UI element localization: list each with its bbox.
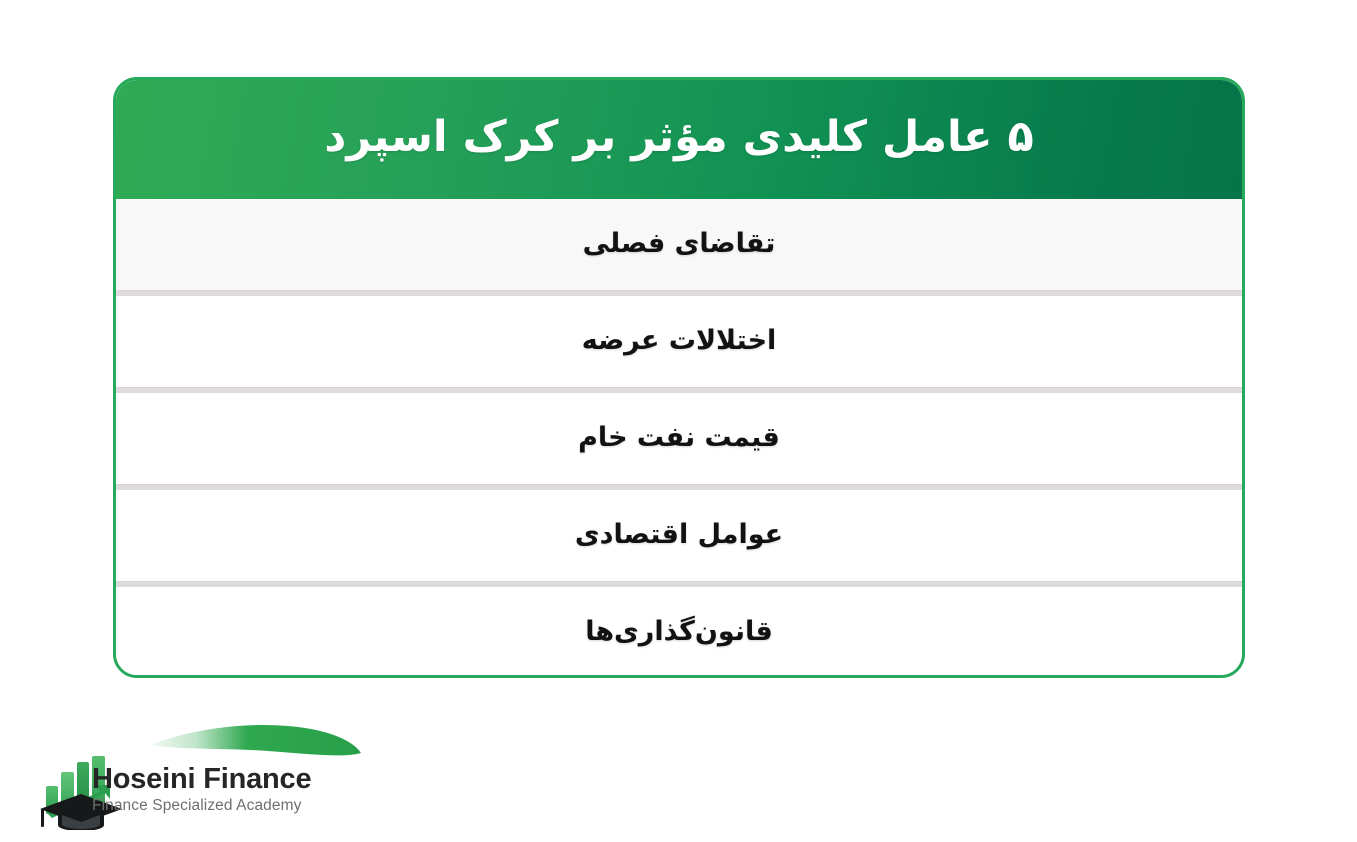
factors-card: ۵ عامل کلیدی مؤثر بر کرک اسپرد تقاضای فص… <box>113 77 1245 678</box>
list-item[interactable]: قانون‌گذاری‌ها <box>116 587 1242 678</box>
card-header: ۵ عامل کلیدی مؤثر بر کرک اسپرد <box>116 80 1242 199</box>
logo-tagline: Finance Specialized Academy <box>92 797 362 815</box>
list-item-label: عوامل اقتصادی <box>575 519 783 551</box>
list-item-label: قانون‌گذاری‌ها <box>585 616 773 648</box>
logo-text-block: Hoseini Finance Finance Specialized Acad… <box>92 764 362 815</box>
list-item[interactable]: عوامل اقتصادی <box>116 490 1242 581</box>
list-item[interactable]: قیمت نفت خام <box>116 393 1242 484</box>
page-title: ۵ عامل کلیدی مؤثر بر کرک اسپرد <box>324 114 1034 165</box>
list-item-label: اختلالات عرضه <box>582 325 777 357</box>
list-item[interactable]: تقاضای فصلی <box>116 199 1242 290</box>
list-item-label: تقاضای فصلی <box>583 228 776 260</box>
list-item-label: قیمت نفت خام <box>578 422 780 454</box>
list-item[interactable]: اختلالات عرضه <box>116 296 1242 387</box>
factors-list: تقاضای فصلی اختلالات عرضه قیمت نفت خام ع… <box>116 199 1242 678</box>
brand-logo: Hoseini Finance Finance Specialized Acad… <box>30 712 360 830</box>
logo-name: Hoseini Finance <box>92 764 362 794</box>
